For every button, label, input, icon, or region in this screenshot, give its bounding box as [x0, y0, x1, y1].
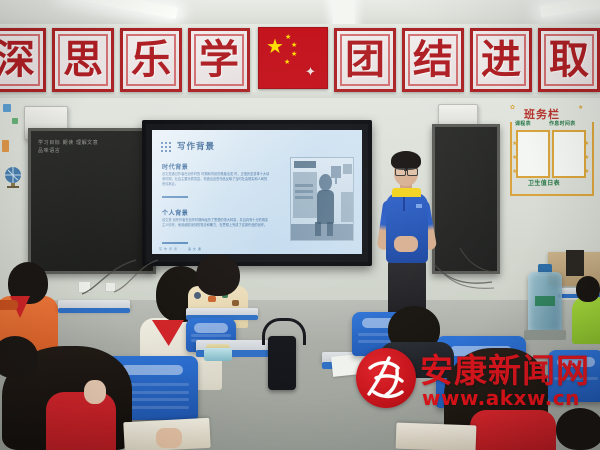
watermark-url: www.akxw.cn	[422, 386, 580, 410]
shirt-pattern-4	[232, 300, 239, 306]
slide-section-1-body: 该文是通过作者在创作时的 时期和背景的角度出发 时，正值历史变革十大动荡时期，社…	[162, 172, 270, 187]
teacher-collar	[392, 188, 421, 197]
teacher-glasses-bridge	[404, 170, 408, 171]
flag-star-4: ★	[284, 59, 290, 66]
slide-divider-2	[162, 242, 188, 244]
board-star-r3: ★	[584, 168, 589, 175]
board-star-l3: ★	[512, 168, 517, 175]
board-star-r1: ★	[584, 140, 589, 147]
student-hand-left	[156, 428, 182, 448]
shirt-pattern-2	[208, 296, 216, 302]
slide-section-2-heading: 个人背景	[162, 208, 188, 217]
teacher-placket	[403, 195, 405, 211]
slide-illustration	[290, 157, 354, 241]
presentation-slide[interactable]: 写作背景 时代背景 该文是通过作者在创作时的 时期和背景的角度出发 时，正值历史…	[152, 130, 362, 254]
shirt-pattern-1	[194, 292, 201, 299]
water-cooler-label	[535, 296, 555, 306]
banner-tile-7: 进	[470, 28, 532, 92]
screenshot-root: 深 思 乐 学 ★ ★ ★ ★ ★ ✦ 团 结 进 取 学习目标 朗读 理解文意…	[0, 0, 600, 450]
student-arm-orange	[0, 300, 18, 310]
flag-star-2: ★	[291, 42, 297, 49]
banner-char-1: 深	[0, 40, 35, 80]
board-star-l1: ★	[512, 140, 517, 147]
watermark: 安康新闻网 www.akxw.cn	[356, 344, 596, 420]
board-panel-2-label: 作息时间表	[549, 120, 576, 127]
board-deco-star-right: ★	[578, 104, 583, 111]
slide-title-dots-icon	[161, 142, 173, 154]
flag-star-1: ★	[285, 34, 291, 41]
slide-section-1-heading: 时代背景	[162, 162, 188, 171]
lunch-box	[204, 348, 232, 361]
student-head-green	[576, 276, 600, 302]
desk-edge-back-left	[58, 308, 130, 313]
teacher-logo	[416, 204, 422, 208]
globe-sticker	[2, 165, 24, 189]
wall-sticker-3	[2, 140, 9, 152]
slide-footer: 写作背景 · 语文课	[159, 247, 203, 251]
banner-tile-1: 深	[0, 28, 46, 92]
open-book-right	[396, 423, 477, 450]
teacher-glasses-right	[407, 168, 418, 176]
water-cooler-base	[524, 330, 566, 340]
board-deco-star-left: ✿	[510, 104, 515, 111]
teacher	[374, 148, 438, 326]
flag-glare: ✦	[305, 64, 316, 80]
wall-sticker-1	[3, 104, 11, 112]
student-head-front-left2	[0, 336, 38, 378]
board-star-l2: ★	[512, 154, 517, 161]
wall-trim	[0, 92, 600, 98]
banner-char-2: 思	[63, 40, 103, 80]
chalk-line-1: 学习目标 朗读 理解文意	[38, 139, 98, 146]
blackboard-left: 学习目标 朗读 理解文意 品味语言	[28, 128, 156, 274]
slide-section-2-body: 该文是 创作作者在创作时期间经历了思想的重大转变，并且具有十分的现实主义情怀，他…	[162, 218, 270, 228]
watermark-logo-icon	[356, 348, 416, 408]
banner-tile-8: 取	[538, 28, 600, 92]
backpack	[268, 336, 296, 390]
board-panel-schedule[interactable]	[516, 130, 550, 178]
teacher-hands	[394, 236, 418, 252]
banner-char-8: 取	[549, 40, 589, 80]
slide-title: 写作背景	[177, 140, 215, 152]
banner-tile-2: 思	[52, 28, 114, 92]
ceiling-light-1	[60, 0, 178, 19]
banner-char-5: 团	[345, 40, 385, 80]
cabinet-panel	[566, 250, 584, 276]
banner-tile-3: 乐	[120, 28, 182, 92]
banner-tile-5: 团	[334, 28, 396, 92]
student-body-front-left	[46, 392, 116, 450]
banner-tile-6: 结	[402, 28, 464, 92]
banner-tile-4: 学	[188, 28, 250, 92]
student-face-front-left	[84, 380, 106, 404]
student-head-patterned	[196, 254, 240, 296]
flag-star-3: ★	[291, 51, 297, 58]
projection-screen[interactable]: 写作背景 时代背景 该文是通过作者在创作时的 时期和背景的角度出发 时，正值历史…	[142, 120, 372, 266]
banner-char-4: 学	[199, 40, 239, 80]
cable-right-2	[458, 246, 498, 286]
board-bottom-label: 卫生值日表	[528, 178, 560, 187]
watermark-site-name: 安康新闻网	[420, 344, 590, 392]
slide-divider-1	[162, 196, 188, 198]
student-body-green	[572, 296, 600, 344]
flag-star-large: ★	[266, 37, 284, 57]
bulletin-board: 班务栏 ✿ ★ 课程表 作息时间表 卫生值日表 ★ ★ ★ ★ ★ ★	[506, 100, 594, 218]
china-flag: ★ ★ ★ ★ ★ ✦	[258, 27, 328, 89]
banner-char-7: 进	[481, 40, 521, 80]
board-panel-timetable[interactable]	[552, 130, 586, 178]
banner-char-3: 乐	[131, 40, 171, 80]
board-star-r2: ★	[584, 154, 589, 161]
wall-sticker-2	[12, 118, 18, 124]
banner-char-6: 结	[413, 40, 453, 80]
board-panel-1-label: 课程表	[515, 120, 531, 127]
chalk-line-2: 品味语言	[38, 147, 60, 154]
ceiling-light-3	[540, 0, 600, 17]
